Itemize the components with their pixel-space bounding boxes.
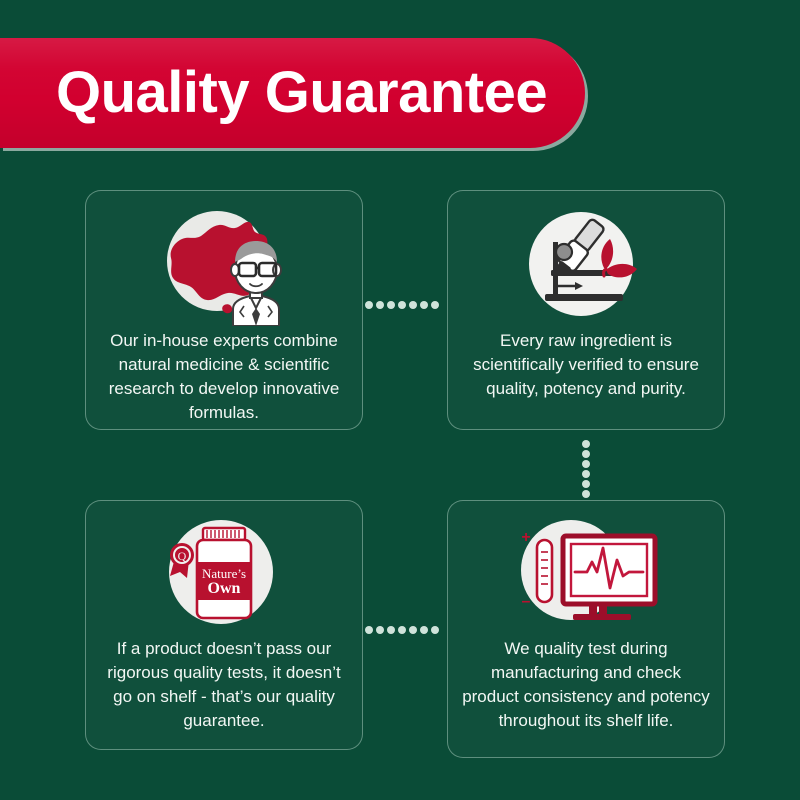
connector-dot	[431, 301, 439, 309]
connector-dot	[582, 480, 590, 488]
card-text: Our in-house experts combine natural med…	[86, 329, 362, 426]
card-in-house-experts: Our in-house experts combine natural med…	[85, 190, 363, 430]
connector-dot	[376, 301, 384, 309]
monitor-ecg-thermometer-svg: + –	[511, 514, 661, 634]
connector-dot	[387, 301, 395, 309]
card-text: Every raw ingredient is scientifically v…	[448, 329, 724, 401]
microscope-leaf-icon	[511, 205, 661, 327]
page-title: Quality Guarantee	[56, 64, 547, 122]
connector-dot	[409, 301, 417, 309]
header-banner: Quality Guarantee	[0, 38, 585, 148]
australia-map-scientist-svg	[149, 206, 299, 326]
connector-dot	[582, 470, 590, 478]
connector-dot	[582, 440, 590, 448]
card-quality-tests-shelf: Q Nature’s Own If a product doesn’t pass…	[85, 500, 363, 750]
connector-card1-to-card2	[365, 301, 439, 309]
microscope-leaf-svg	[511, 206, 661, 326]
connector-card3-to-card4	[365, 626, 439, 634]
australia-map-scientist-icon	[149, 205, 299, 327]
connector-dot	[398, 301, 406, 309]
connector-dot	[582, 450, 590, 458]
connector-dot	[582, 460, 590, 468]
connector-dot	[420, 626, 428, 634]
quality-guarantee-infographic: Quality Guarantee	[0, 0, 800, 800]
connector-dot	[409, 626, 417, 634]
supplement-bottle-award-svg: Q Nature’s Own	[149, 514, 299, 634]
card-raw-ingredient-verified: Every raw ingredient is scientifically v…	[447, 190, 725, 430]
connector-dot	[420, 301, 428, 309]
minus-sign: –	[522, 593, 531, 610]
connector-dot	[431, 626, 439, 634]
connector-card2-to-card4	[582, 440, 590, 498]
monitor-ecg-thermometer-icon: + –	[511, 513, 661, 635]
card-text: If a product doesn’t pass our rigorous q…	[86, 637, 362, 734]
award-badge-letter: Q	[178, 549, 187, 563]
card-text: We quality test during manufacturing and…	[448, 637, 724, 734]
connector-dot	[387, 626, 395, 634]
connector-dot	[398, 626, 406, 634]
card-manufacturing-testing: + – We quality test during manufacturing…	[447, 500, 725, 758]
connector-dot	[582, 490, 590, 498]
connector-dot	[365, 301, 373, 309]
supplement-bottle-award-icon: Q Nature’s Own	[149, 513, 299, 635]
header-banner-inner: Quality Guarantee	[0, 38, 585, 148]
bottle-brand-line2: Own	[208, 580, 241, 597]
plus-sign: +	[521, 529, 530, 546]
connector-dot	[365, 626, 373, 634]
bottle-brand-line1: Nature’s	[202, 566, 246, 581]
connector-dot	[376, 626, 384, 634]
